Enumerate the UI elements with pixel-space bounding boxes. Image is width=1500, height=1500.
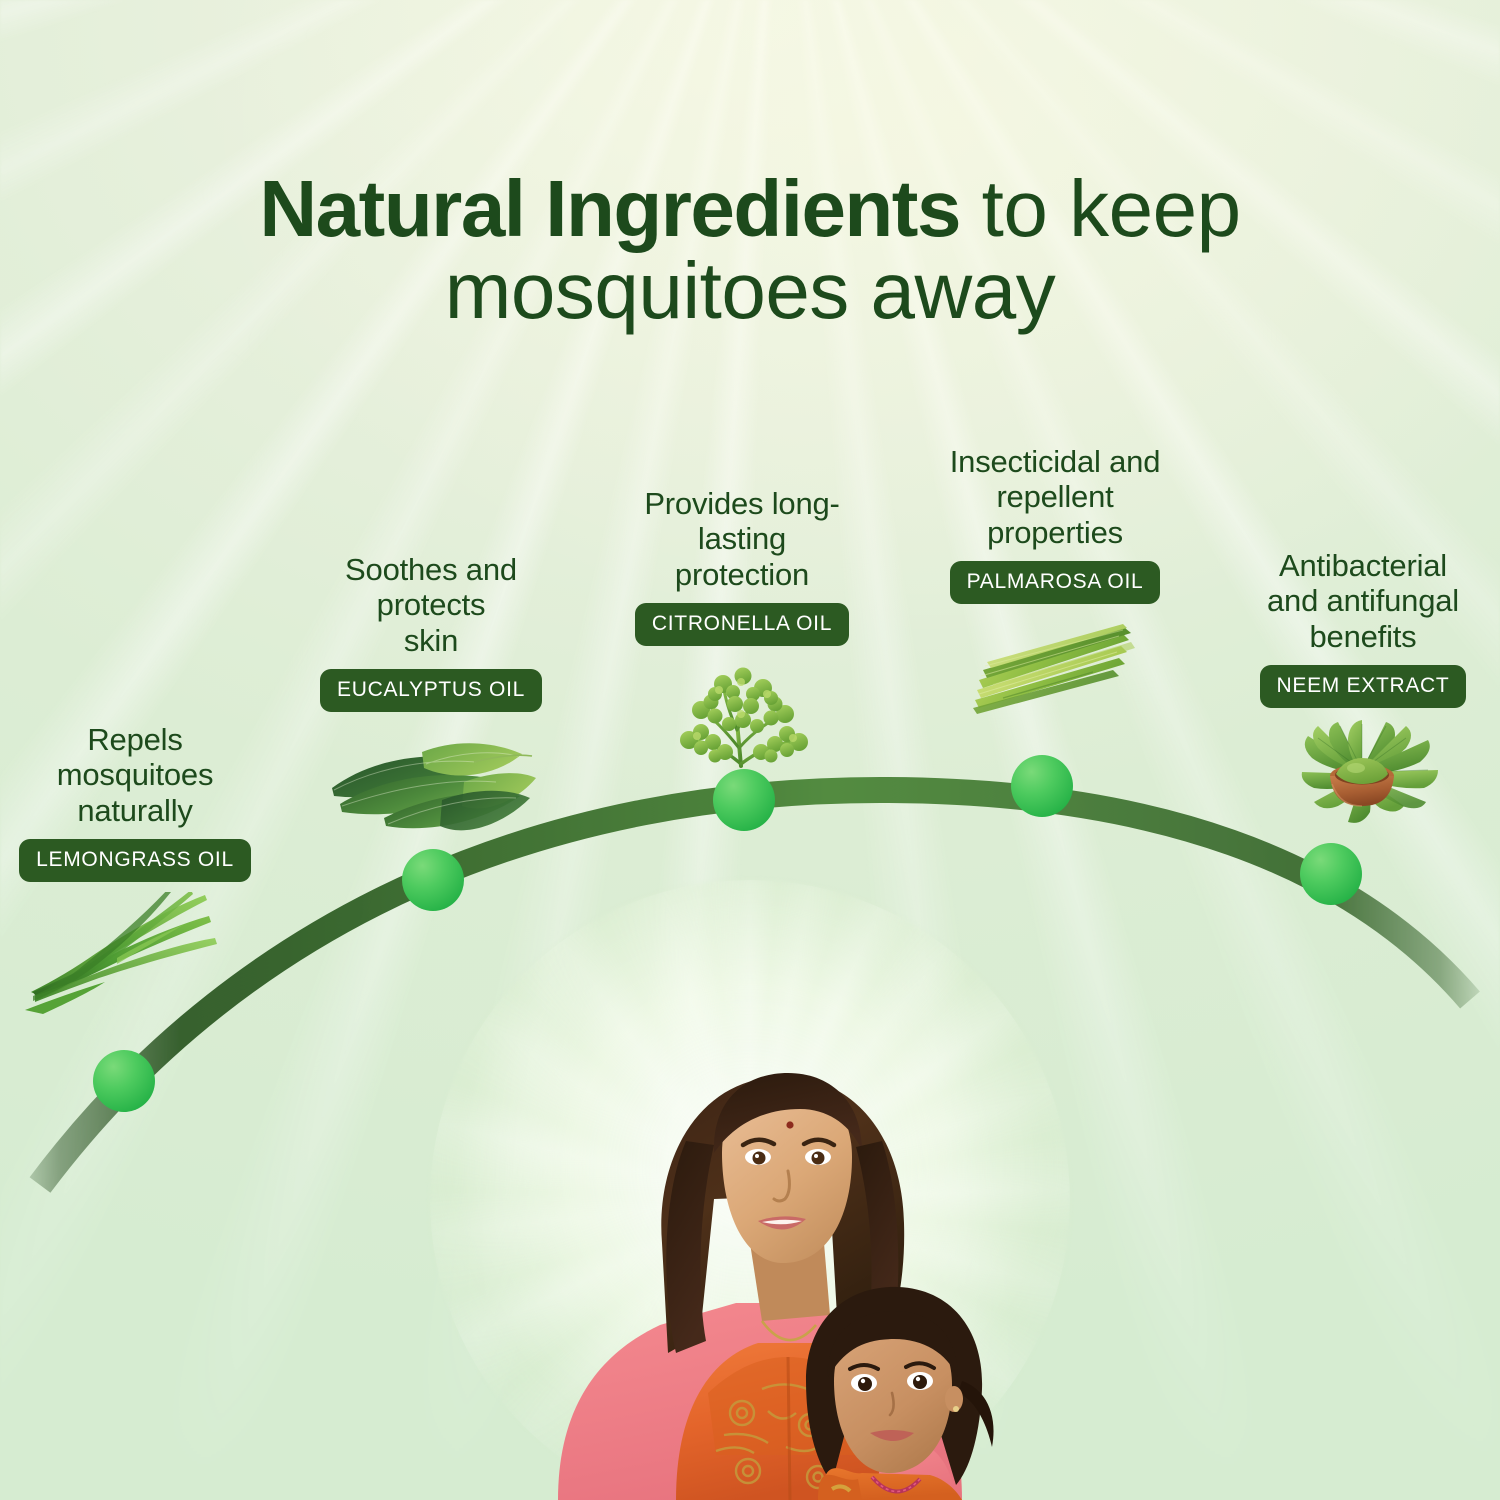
eucalyptus-leaves-icon: [324, 726, 538, 846]
title-bold-part: Natural Ingredients: [259, 164, 960, 253]
ingredient-description: Repels mosquitoes naturally: [5, 722, 265, 828]
ingredient-badge[interactable]: PALMAROSA OIL: [950, 561, 1161, 604]
ingredient-palmarosa[interactable]: Insecticidal and repellent properties PA…: [918, 444, 1192, 727]
citronella-sprig-icon: [667, 662, 817, 774]
ingredient-description: Insecticidal and repellent properties: [918, 444, 1192, 550]
palmarosa-grass-bundle-icon: [973, 618, 1137, 722]
mother-and-child-photo: [500, 985, 1020, 1500]
title-line-2: mosquitoes away: [0, 250, 1500, 332]
ingredient-citronella[interactable]: Provides long- lasting protection CITRON…: [618, 486, 866, 779]
ingredient-badge[interactable]: EUCALYPTUS OIL: [320, 669, 542, 712]
lemongrass-blades-icon: [21, 892, 221, 1022]
title-regular-part: to keep: [960, 164, 1241, 253]
ingredient-badge[interactable]: LEMONGRASS OIL: [19, 839, 251, 882]
ingredient-eucalyptus[interactable]: Soothes and protects skin EUCALYPTUS OIL: [302, 552, 560, 851]
page-title: Natural Ingredients to keep mosquitoes a…: [0, 168, 1500, 333]
ingredient-lemongrass[interactable]: Repels mosquitoes naturally LEMONGRASS O…: [5, 722, 265, 1027]
infographic-canvas: Natural Ingredients to keep mosquitoes a…: [0, 0, 1500, 1500]
ingredient-badge[interactable]: NEEM EXTRACT: [1260, 665, 1467, 708]
ingredient-neem[interactable]: Antibacterial and antifungal benefits NE…: [1232, 548, 1494, 833]
ingredient-description: Provides long- lasting protection: [618, 486, 866, 592]
neem-bowl-leaves-icon: [1278, 720, 1448, 828]
ingredient-description: Antibacterial and antifungal benefits: [1232, 548, 1494, 654]
ingredient-description: Soothes and protects skin: [302, 552, 560, 658]
ingredient-badge[interactable]: CITRONELLA OIL: [635, 603, 849, 646]
